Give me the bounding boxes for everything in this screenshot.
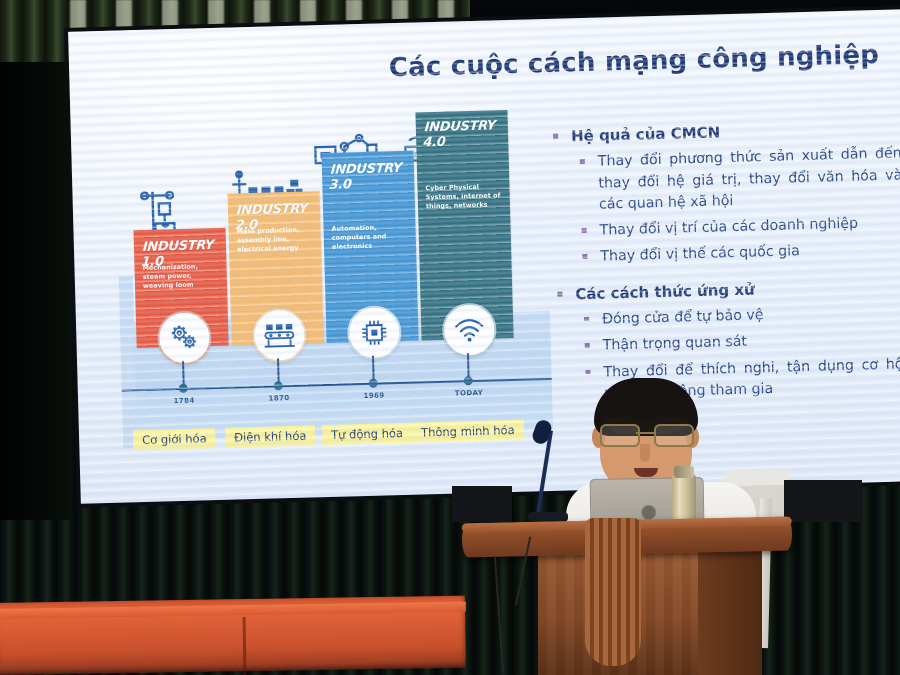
- bar-description: Automation, computers and electronics: [331, 223, 409, 252]
- vn-label-highlight: Thông minh hóa: [412, 420, 524, 443]
- timeline-year: 1784: [154, 396, 214, 406]
- podium-side-panel: [698, 548, 762, 675]
- glasses-bridge: [636, 432, 654, 434]
- background-chair-right: [784, 480, 862, 522]
- bar-description: Cyber Physical Systems, internet of thin…: [425, 182, 503, 211]
- podium-decorative-ridges: [585, 518, 641, 666]
- bar-title: INDUSTRY 4.0: [423, 118, 503, 150]
- bar-description: Mechanization, steam power, weaving loom: [142, 262, 220, 291]
- bullet-level2: Thay đổi phương thức sản xuất dẫn đến th…: [550, 144, 900, 217]
- glasses-lens-left: [600, 424, 640, 447]
- industry-revolution-infographic: ERP: [91, 115, 560, 477]
- slide-title: Các cuộc cách mạng công nghiệp: [388, 40, 879, 83]
- water-bottle-cap: [674, 466, 694, 478]
- eyeglasses-icon: [596, 424, 696, 444]
- bar-title: INDUSTRY 3.0: [329, 161, 409, 193]
- curtain-left-edge: [0, 0, 70, 520]
- vn-label-highlight: Điện khí hóa: [225, 425, 316, 447]
- vn-label-highlight: Cơ giới hóa: [133, 428, 216, 450]
- speaker-nose: [640, 444, 650, 462]
- bullet-level2: Thận trọng quan sát: [555, 328, 900, 359]
- bullet-level2: Thay đổi vị trí của các doanh nghiệp: [551, 213, 900, 244]
- bullet-level2: Đóng cửa để tự bảo vệ: [554, 301, 900, 332]
- presentation-photo: Các cuộc cách mạng công nghiệp: [0, 0, 900, 675]
- projection-screen: Các cuộc cách mạng công nghiệp: [68, 9, 900, 503]
- bullet-level2: Thay đổi vị thế các quốc gia: [552, 239, 900, 270]
- projection-screen-frame: Các cuộc cách mạng công nghiệp: [64, 5, 900, 508]
- timeline-year: 1969: [344, 391, 404, 401]
- bullet-level1: Hệ quả của CMCN: [549, 117, 900, 147]
- slide-bullet-list: Hệ quả của CMCN Thay đổi phương thức sản…: [549, 117, 900, 411]
- laptop-logo: [641, 505, 656, 520]
- background-chair-left: [452, 486, 512, 522]
- vn-label-highlight: Tự động hóa: [322, 423, 412, 445]
- timeline-year: 1870: [249, 394, 309, 404]
- glasses-lens-right: [654, 424, 694, 447]
- timeline-year: TODAY: [439, 388, 499, 398]
- bar-description: Mass production, assembly line, electric…: [236, 225, 314, 254]
